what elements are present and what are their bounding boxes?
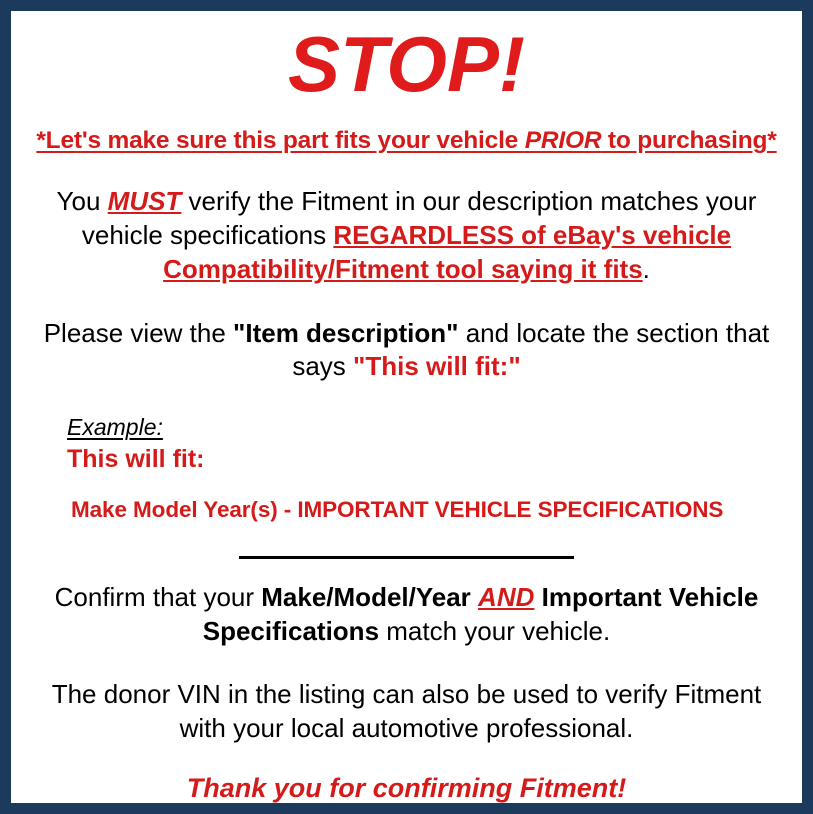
this-will-fit-emphasis: "This will fit:" [353, 351, 521, 381]
confirm-paragraph: Confirm that your Make/Model/Year AND Im… [25, 567, 788, 649]
confirm-para-part1: Confirm that your [55, 582, 262, 612]
vin-paragraph: The donor VIN in the listing can also be… [25, 648, 788, 746]
fitment-notice-card: STOP! *Let's make sure this part fits yo… [0, 0, 813, 814]
and-emphasis: AND [478, 582, 534, 612]
must-para-part1: You [57, 186, 108, 216]
horizontal-divider [239, 556, 574, 559]
example-fit-line: This will fit: [67, 442, 788, 474]
itemdesc-para-part1: Please view the [44, 318, 233, 348]
make-model-year-emphasis: Make/Model/Year [261, 582, 471, 612]
must-emphasis: MUST [108, 186, 182, 216]
example-block: Example: This will fit: Make Model Year(… [25, 384, 788, 523]
item-description-emphasis: "Item description" [233, 318, 458, 348]
tagline-suffix: to purchasing* [601, 127, 776, 154]
must-para-part3: . [643, 254, 650, 284]
example-label: Example: [67, 414, 788, 442]
page-title: STOP! [25, 11, 788, 103]
divider-wrapper [25, 523, 788, 567]
must-verify-paragraph: You MUST verify the Fitment in our descr… [25, 155, 788, 286]
confirm-para-part2: match your vehicle. [379, 616, 610, 646]
tagline-prefix: *Let's make sure this part fits your veh… [36, 127, 524, 154]
tagline-emphasis-prior: PRIOR [525, 127, 602, 154]
notice-content: STOP! *Let's make sure this part fits yo… [11, 11, 802, 803]
item-description-paragraph: Please view the "Item description" and l… [25, 287, 788, 385]
tagline: *Let's make sure this part fits your veh… [25, 103, 788, 155]
thanks-line: Thank you for confirming Fitment! [25, 746, 788, 804]
example-spec-line: Make Model Year(s) - IMPORTANT VEHICLE S… [67, 474, 788, 523]
